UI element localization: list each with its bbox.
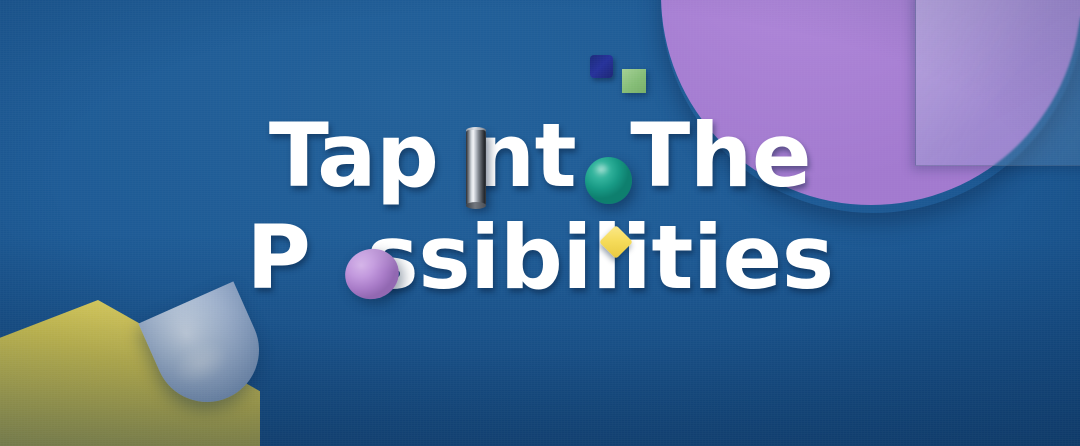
metallic-cylinder-icon bbox=[466, 130, 486, 206]
headline-text-ties: ties bbox=[651, 214, 833, 302]
headline-text-the: The bbox=[630, 112, 811, 200]
headline-text-tap: Tap bbox=[269, 112, 439, 200]
headline-line-1: Tap nt The bbox=[0, 112, 1080, 200]
metallic-cylinder-bottom-cap bbox=[466, 202, 486, 209]
headline-text-p: P bbox=[246, 214, 310, 302]
headline: Tap nt The Pssibilities bbox=[0, 112, 1080, 302]
teal-sphere-icon bbox=[585, 157, 632, 204]
headline-text-nt: nt bbox=[472, 112, 576, 200]
headline-line-2: Pssibilities bbox=[0, 214, 1080, 302]
headline-text-ssibil: ssibil bbox=[366, 214, 621, 302]
headline-text-i-stem: i bbox=[622, 214, 652, 302]
hero-banner: Tap nt The Pssibilities bbox=[0, 0, 1080, 446]
teal-sphere-highlight bbox=[594, 163, 610, 175]
